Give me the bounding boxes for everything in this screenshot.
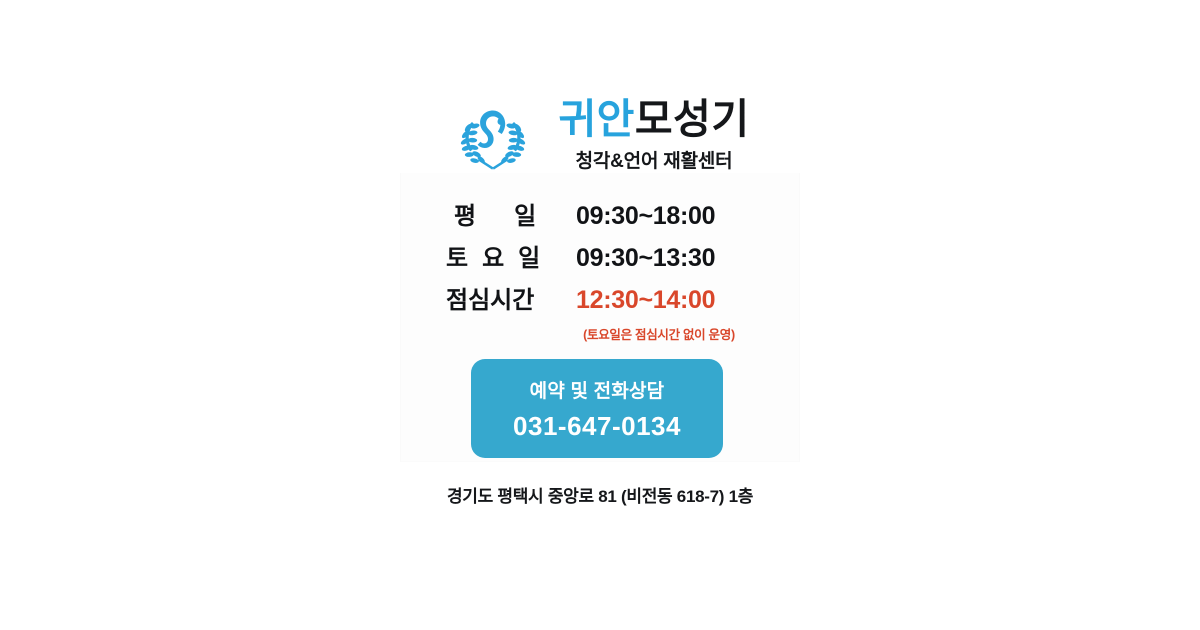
brand-wordmark: 귀안모성기 청각&언어 재활센터 xyxy=(558,96,749,173)
cta-phone-number[interactable]: 031-647-0134 xyxy=(513,411,681,442)
hours-value-weekday: 09:30~18:00 xyxy=(576,202,756,231)
hours-value-saturday: 09:30~13:30 xyxy=(576,244,756,273)
lunch-note: (토요일은 점심시간 없이 운영) xyxy=(0,324,1200,343)
cta-title: 예약 및 전화상담 xyxy=(530,376,665,403)
brand-header: 귀안모성기 청각&언어 재활센터 xyxy=(0,96,1200,173)
ear-laurel-wreath-icon xyxy=(450,100,536,172)
card-content: 귀안모성기 청각&언어 재활센터 평일 09:30~18:00 토요일 09:3… xyxy=(0,0,1200,630)
hours-label-lunch: 점심시간 xyxy=(444,280,576,315)
clinic-info-card: 귀안모성기 청각&언어 재활센터 평일 09:30~18:00 토요일 09:3… xyxy=(0,0,1200,630)
brand-name-blue: 귀안 xyxy=(558,96,634,142)
hours-row-weekday: 평일 09:30~18:00 xyxy=(0,196,1200,238)
business-hours: 평일 09:30~18:00 토요일 09:30~13:30 점심시간 12:3… xyxy=(0,196,1200,343)
hours-label-weekday: 평일 xyxy=(444,196,576,231)
clinic-address: 경기도 평택시 중앙로 81 (비전동 618-7) 1층 xyxy=(0,482,1200,507)
hours-label-saturday: 토요일 xyxy=(444,238,576,273)
brand-name-black: 모성기 xyxy=(635,96,750,142)
reservation-call-button[interactable]: 예약 및 전화상담 031-647-0134 xyxy=(471,359,723,458)
hours-row-saturday: 토요일 09:30~13:30 xyxy=(0,238,1200,280)
hours-value-lunch: 12:30~14:00 xyxy=(576,286,756,315)
hours-row-lunch: 점심시간 12:30~14:00 xyxy=(0,280,1200,322)
brand-name: 귀안모성기 xyxy=(558,98,749,141)
brand-subtitle: 청각&언어 재활센터 xyxy=(576,146,733,173)
